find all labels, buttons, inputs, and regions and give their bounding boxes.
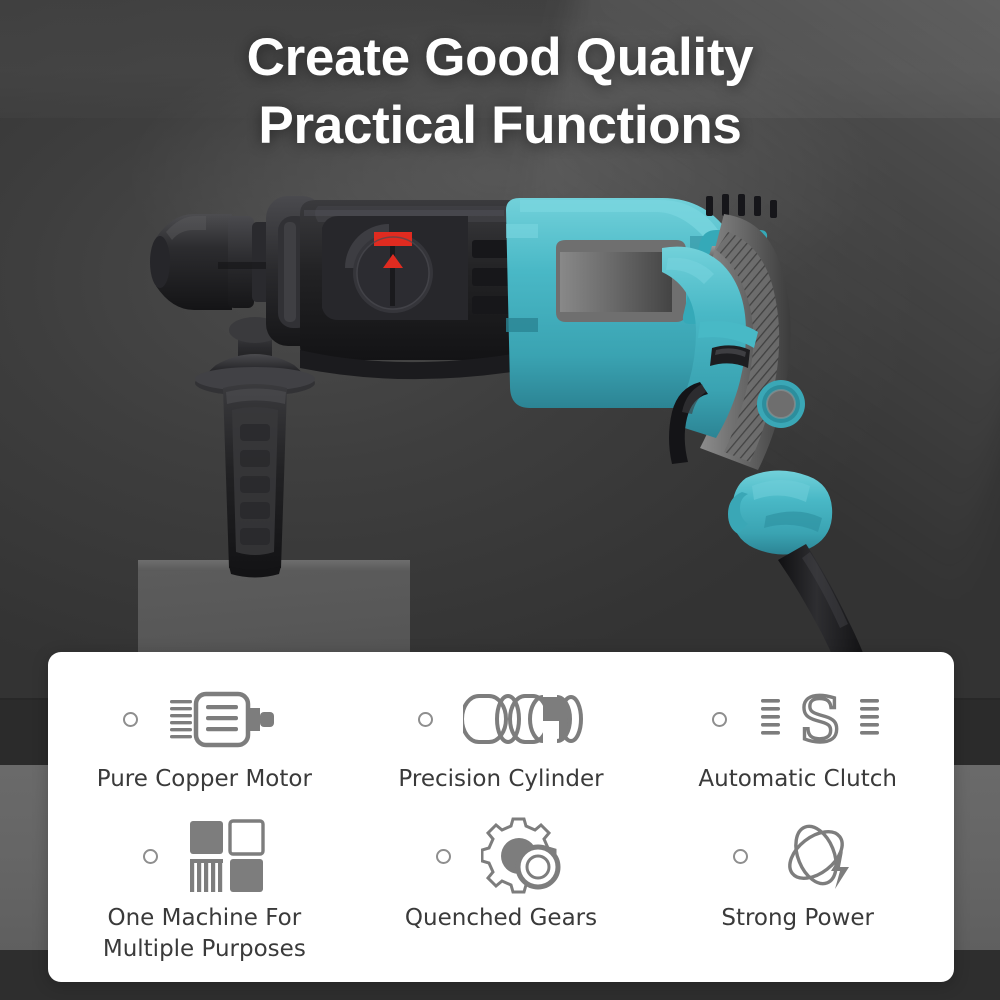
feature-quenched-gears[interactable]: Quenched Gears — [353, 813, 650, 964]
feature-icon-row — [56, 813, 353, 899]
tool-body-housing — [300, 200, 514, 379]
bullet-circle-icon — [712, 712, 727, 727]
feature-one-machine-multiple-purposes[interactable]: One Machine For Multiple Purposes — [56, 813, 353, 964]
product-banner: Create Good Quality Practical Functions — [0, 0, 1000, 1000]
bullet-circle-icon — [733, 849, 748, 864]
bullet-circle-icon — [418, 712, 433, 727]
feature-pure-copper-motor[interactable]: Pure Copper Motor — [56, 678, 353, 813]
gear-wheel-icon — [481, 817, 567, 895]
headline-line-2: Practical Functions — [0, 92, 1000, 160]
atom-bolt-icon — [778, 819, 862, 893]
feature-label-line-2: Multiple Purposes — [103, 936, 306, 962]
feature-icon-row — [649, 813, 946, 899]
feature-label: Strong Power — [721, 903, 874, 933]
headline-line-1: Create Good Quality — [247, 28, 754, 87]
feature-label: One Machine For Multiple Purposes — [103, 903, 306, 964]
features-panel: Pure Copper Motor — [48, 652, 954, 982]
feature-label: Quenched Gears — [405, 903, 597, 933]
feature-icon-row — [353, 678, 650, 760]
feature-label: Precision Cylinder — [398, 764, 603, 794]
page-title: Create Good Quality Practical Functions — [0, 24, 1000, 160]
s-clutch-icon: S — [757, 687, 883, 751]
feature-automatic-clutch[interactable]: S Automatic Clutch — [649, 678, 946, 813]
cylinder-rings-icon — [463, 688, 585, 750]
speed-dial[interactable] — [757, 380, 805, 428]
bullet-circle-icon — [436, 849, 451, 864]
feature-icon-row — [56, 678, 353, 760]
side-handle — [195, 317, 315, 578]
feature-icon-row: S — [649, 678, 946, 760]
electric-motor-icon — [168, 688, 286, 750]
feature-precision-cylinder[interactable]: Precision Cylinder — [353, 678, 650, 813]
chuck-assembly — [150, 214, 274, 310]
bullet-circle-icon — [143, 849, 158, 864]
feature-icon-row — [353, 813, 650, 899]
svg-text:S: S — [799, 687, 841, 751]
four-squares-grid-icon — [188, 819, 266, 893]
features-row-2: One Machine For Multiple Purposes Quench… — [56, 813, 946, 964]
bullet-circle-icon — [123, 712, 138, 727]
feature-label: Pure Copper Motor — [97, 764, 312, 794]
feature-label: Automatic Clutch — [698, 764, 897, 794]
features-row-1: Pure Copper Motor — [56, 678, 946, 813]
feature-label-line-1: One Machine For — [107, 905, 301, 931]
feature-strong-power[interactable]: Strong Power — [649, 813, 946, 964]
